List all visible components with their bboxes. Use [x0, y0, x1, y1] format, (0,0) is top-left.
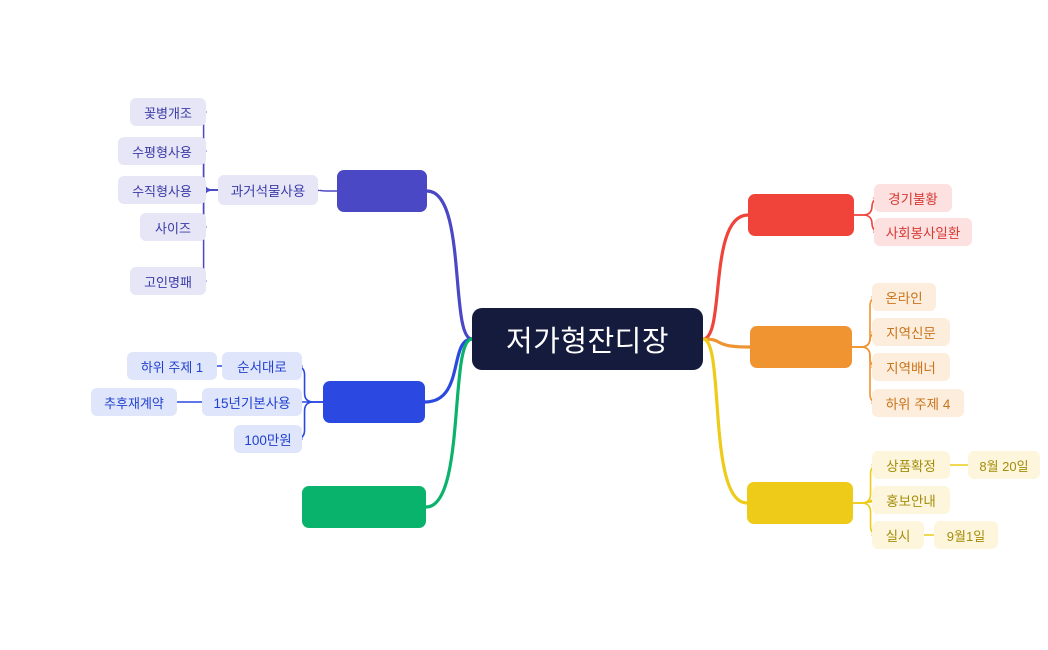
leaf-design-0-2[interactable]: 수직형사용: [118, 176, 206, 204]
subtopic-preparation-0-label: 상품확정: [886, 455, 936, 475]
subtopic-promotion-1-label: 지역신문: [886, 322, 936, 342]
leaf-preparation-0-0-label: 8월 20일: [979, 456, 1028, 475]
root-node-label: 저가형잔디장: [506, 318, 669, 360]
branch-node-topic3[interactable]: [302, 486, 426, 528]
leaf-design-0-3-label: 사이즈: [155, 218, 191, 237]
leaf-preparation-2-0[interactable]: 9월1일: [934, 521, 998, 549]
subtopic-operation-1-label: 15년기본사용: [213, 392, 290, 412]
leaf-operation-1-0[interactable]: 추후재계약: [91, 388, 177, 416]
branch-node-promotion[interactable]: [750, 326, 852, 368]
branch-node-background[interactable]: [748, 194, 854, 236]
leaf-design-0-1[interactable]: 수평형사용: [118, 137, 206, 165]
subtopic-promotion-2-label: 지역배너: [886, 357, 936, 377]
subtopic-preparation-2[interactable]: 실시: [872, 521, 924, 549]
subtopic-background-1[interactable]: 사회봉사일환: [874, 218, 972, 246]
subtopic-operation-2[interactable]: 100만원: [234, 425, 302, 453]
branch-node-preparation[interactable]: [747, 482, 853, 524]
root-node[interactable]: 저가형잔디장: [472, 308, 703, 370]
leaf-design-0-4[interactable]: 고인명패: [130, 267, 206, 295]
mindmap-canvas: 저가형잔디장과거석물사용꽃병개조수평형사용수직형사용사이즈고인명패순서대로하위 …: [0, 0, 1048, 650]
leaf-design-0-0[interactable]: 꽃병개조: [130, 98, 206, 126]
subtopic-preparation-1[interactable]: 홍보안내: [872, 486, 950, 514]
subtopic-operation-0[interactable]: 순서대로: [222, 352, 302, 380]
subtopic-background-1-label: 사회봉사일환: [886, 222, 961, 242]
subtopic-promotion-1[interactable]: 지역신문: [872, 318, 950, 346]
leaf-operation-0-0[interactable]: 하위 주제 1: [127, 352, 217, 380]
subtopic-operation-1[interactable]: 15년기본사용: [202, 388, 302, 416]
leaf-design-0-1-label: 수평형사용: [132, 142, 192, 161]
subtopic-background-0[interactable]: 경기불황: [874, 184, 952, 212]
subtopic-preparation-0[interactable]: 상품확정: [872, 451, 950, 479]
subtopic-design-0-label: 과거석물사용: [231, 180, 306, 200]
subtopic-promotion-0[interactable]: 온라인: [872, 283, 936, 311]
subtopic-promotion-0-label: 온라인: [885, 287, 922, 307]
leaf-operation-0-0-label: 하위 주제 1: [141, 357, 203, 376]
leaf-preparation-0-0[interactable]: 8월 20일: [968, 451, 1040, 479]
subtopic-operation-0-label: 순서대로: [237, 356, 287, 376]
leaf-preparation-2-0-label: 9월1일: [947, 526, 985, 545]
subtopic-promotion-2[interactable]: 지역배너: [872, 353, 950, 381]
subtopic-preparation-1-label: 홍보안내: [886, 490, 936, 510]
subtopic-background-0-label: 경기불황: [888, 188, 938, 208]
leaf-design-0-3[interactable]: 사이즈: [140, 213, 206, 241]
leaf-design-0-2-label: 수직형사용: [132, 181, 192, 200]
leaf-design-0-4-label: 고인명패: [144, 272, 192, 291]
subtopic-promotion-3[interactable]: 하위 주제 4: [872, 389, 964, 417]
subtopic-promotion-3-label: 하위 주제 4: [886, 393, 951, 413]
subtopic-operation-2-label: 100만원: [244, 429, 291, 449]
branch-node-operation[interactable]: [323, 381, 425, 423]
branch-node-design[interactable]: [337, 170, 427, 212]
leaf-operation-1-0-label: 추후재계약: [104, 393, 164, 412]
subtopic-preparation-2-label: 실시: [886, 525, 911, 545]
leaf-design-0-0-label: 꽃병개조: [144, 103, 192, 122]
subtopic-design-0[interactable]: 과거석물사용: [218, 175, 318, 205]
